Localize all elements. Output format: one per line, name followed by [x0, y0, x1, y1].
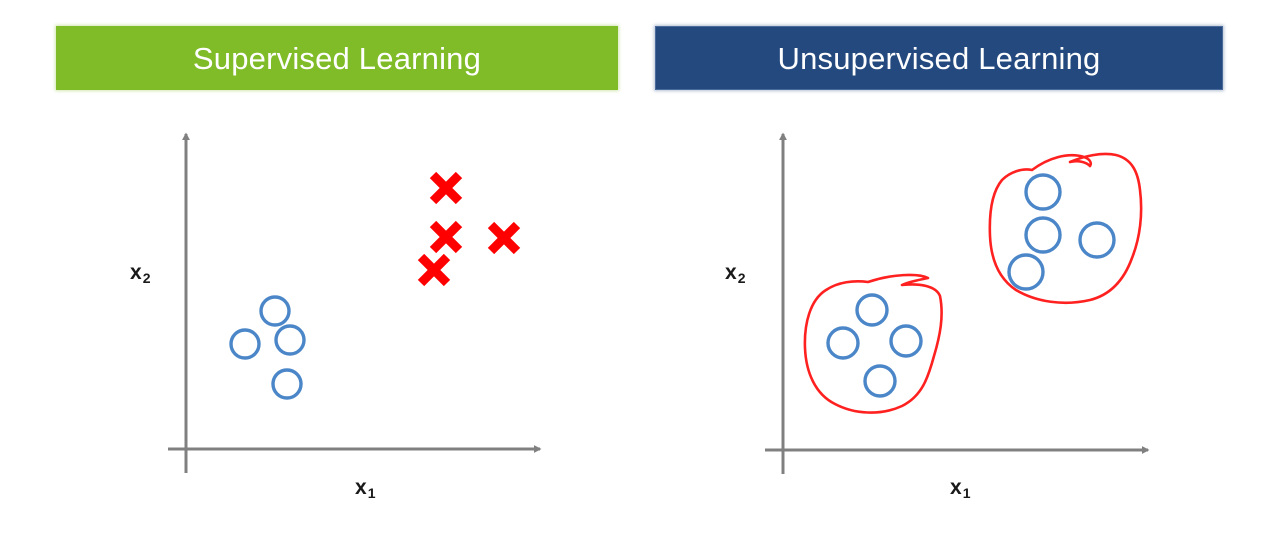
data-point-circle: [273, 370, 301, 398]
y-axis-label-text: x: [130, 261, 142, 284]
data-point-circle: [891, 326, 921, 356]
plot-supervised: [0, 0, 640, 534]
y-axis-label-subscript: 2: [143, 270, 151, 286]
data-point-circle: [1026, 175, 1060, 209]
data-point-circle: [865, 366, 895, 396]
data-point-cross: [433, 224, 459, 250]
panel-unsupervised-learning: Unsupervised Learning: [640, 0, 1280, 534]
data-point-cross: [421, 257, 447, 283]
data-point-circle: [231, 330, 259, 358]
data-point-cross: [491, 225, 517, 251]
x-axis-label-text: x: [950, 476, 962, 499]
y-axis-label: x2: [130, 262, 149, 283]
x-axis-label: x1: [355, 477, 374, 498]
data-point-circle: [857, 295, 887, 325]
panel-supervised-learning: Supervised Learning: [0, 0, 640, 534]
x-axis-label-subscript: 1: [368, 485, 376, 501]
y-axis-label-text: x: [725, 261, 737, 284]
data-point-circle: [1026, 218, 1060, 252]
data-point-circle: [261, 297, 289, 325]
cluster-1-points: [828, 295, 921, 396]
cluster-2-points: [1009, 175, 1114, 289]
data-point-circle: [828, 328, 858, 358]
y-axis-label-subscript: 2: [738, 270, 746, 286]
x-axis-label-text: x: [355, 476, 367, 499]
data-point-circle: [276, 326, 304, 354]
marker-group-circles: [231, 297, 304, 398]
y-axis-label: x2: [725, 262, 744, 283]
data-point-circle: [1080, 223, 1114, 257]
x-axis-label: x1: [950, 477, 969, 498]
data-point-circle: [1009, 255, 1043, 289]
x-axis-label-subscript: 1: [963, 485, 971, 501]
marker-group-crosses: [421, 175, 517, 283]
data-point-cross: [433, 175, 459, 201]
